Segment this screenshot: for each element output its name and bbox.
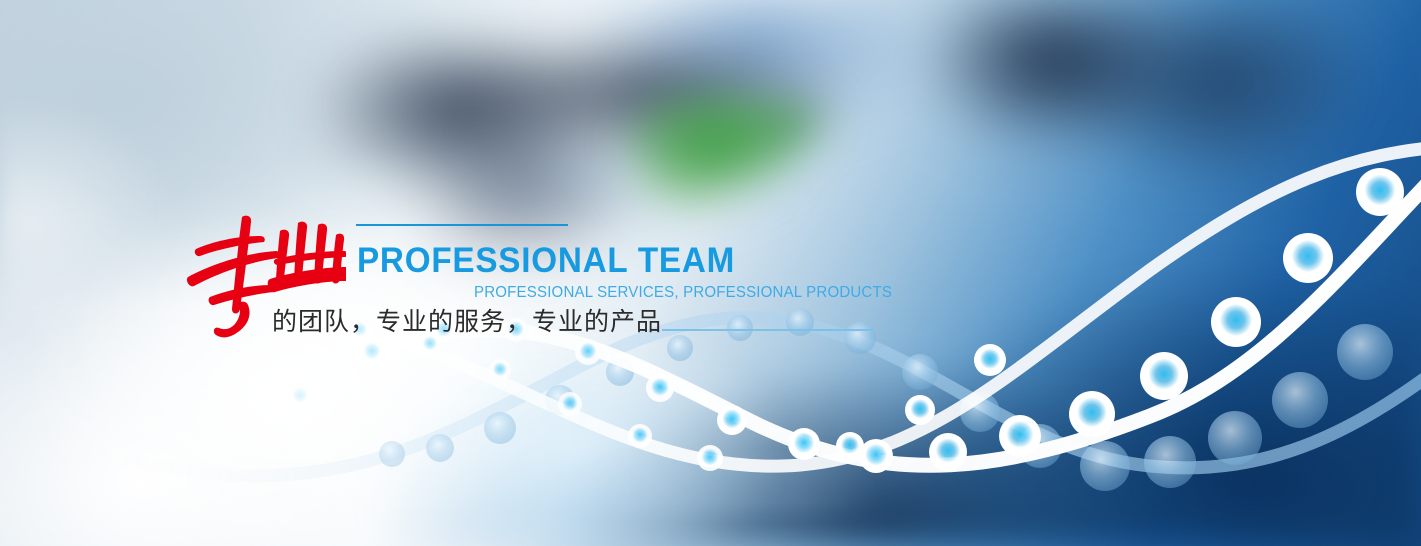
hero-banner: PROFESSIONAL TEAM PROFESSIONAL SERVICES,… [0, 0, 1421, 546]
banner-headline: PROFESSIONAL TEAM [357, 243, 735, 278]
decorative-rule-bottom [662, 329, 874, 331]
banner-copy-block: PROFESSIONAL TEAM PROFESSIONAL SERVICES,… [0, 0, 1421, 546]
banner-subheadline: PROFESSIONAL SERVICES, PROFESSIONAL PROD… [474, 285, 892, 301]
banner-chinese-tagline: 的团队，专业的服务，专业的产品 [272, 306, 662, 337]
decorative-rule-top [356, 224, 568, 226]
